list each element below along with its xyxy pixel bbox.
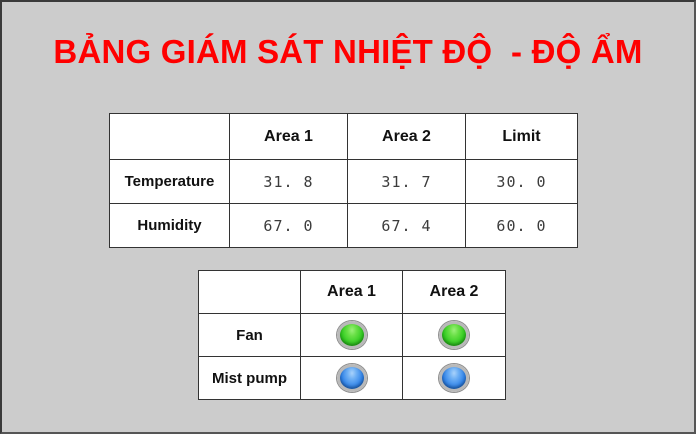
temperature-area-1-value: 31. 8 [230, 160, 348, 204]
page-title: BẢNG GIÁM SÁT NHIỆT ĐỘ - ĐỘ ẨM [53, 32, 642, 72]
table-row: Humidity 67. 0 67. 4 60. 0 [110, 204, 578, 248]
humidity-area-2-value: 67. 4 [348, 204, 466, 248]
row-label-humidity: Humidity [110, 204, 230, 248]
green-indicator-lamp-icon [337, 321, 367, 349]
temperature-limit-value: 30. 0 [466, 160, 578, 204]
blue-indicator-lamp-icon [439, 364, 469, 392]
sensor-header-area-2: Area 2 [348, 114, 466, 160]
table-row: Fan [199, 314, 506, 357]
actuator-header-area-2: Area 2 [403, 271, 506, 314]
actuator-header-corner [199, 271, 301, 314]
row-label-temperature: Temperature [110, 160, 230, 204]
row-label-mist-pump: Mist pump [199, 357, 301, 400]
table-row: Mist pump [199, 357, 506, 400]
actuator-header-area-1: Area 1 [301, 271, 403, 314]
humidity-area-1-value: 67. 0 [230, 204, 348, 248]
table-header-row: Area 1 Area 2 [199, 271, 506, 314]
fan-area-1-status-cell [301, 314, 403, 357]
sensor-header-area-1: Area 1 [230, 114, 348, 160]
mist-pump-area-1-status-cell [301, 357, 403, 400]
monitoring-panel: BẢNG GIÁM SÁT NHIỆT ĐỘ - ĐỘ ẨM Area 1 Ar… [0, 0, 696, 434]
temperature-area-2-value: 31. 7 [348, 160, 466, 204]
humidity-limit-value: 60. 0 [466, 204, 578, 248]
table-row: Temperature 31. 8 31. 7 30. 0 [110, 160, 578, 204]
fan-area-2-status-cell [403, 314, 506, 357]
row-label-fan: Fan [199, 314, 301, 357]
sensor-header-limit: Limit [466, 114, 578, 160]
sensor-header-corner [110, 114, 230, 160]
temperature-humidity-table: Area 1 Area 2 Limit Temperature 31. 8 31… [109, 113, 578, 248]
table-header-row: Area 1 Area 2 Limit [110, 114, 578, 160]
device-status-table: Area 1 Area 2 Fan Mist pump [198, 270, 506, 400]
title-bar: BẢNG GIÁM SÁT NHIỆT ĐỘ - ĐỘ ẨM [2, 32, 694, 72]
blue-indicator-lamp-icon [337, 364, 367, 392]
mist-pump-area-2-status-cell [403, 357, 506, 400]
green-indicator-lamp-icon [439, 321, 469, 349]
